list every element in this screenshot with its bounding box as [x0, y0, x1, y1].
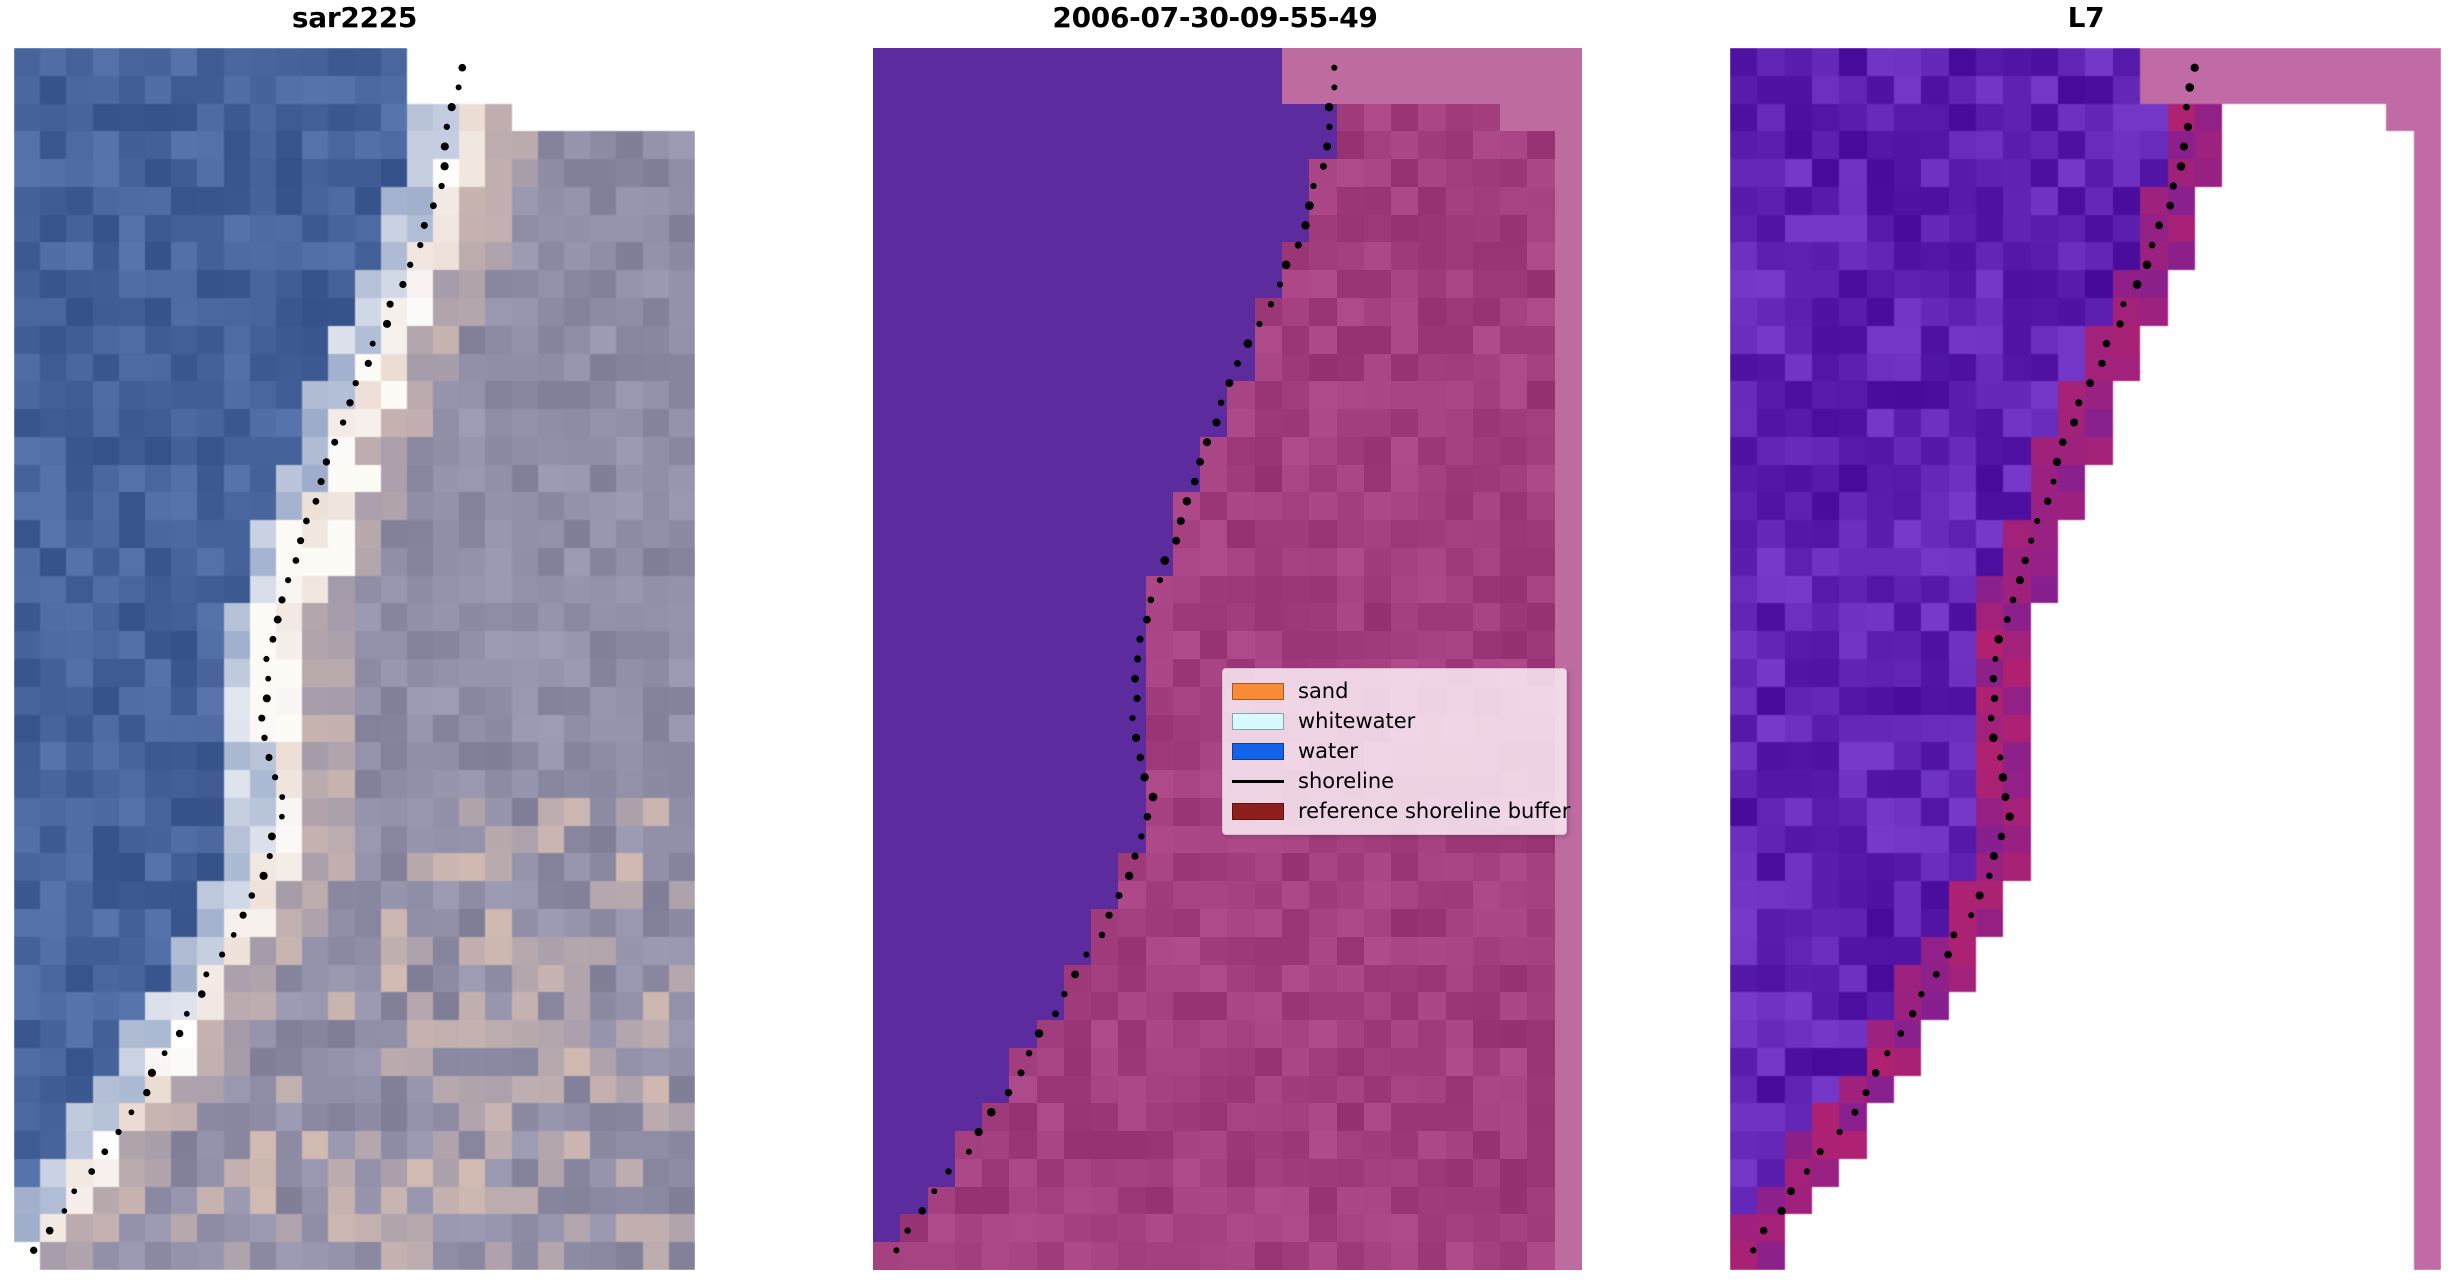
legend-swatch-shoreline-icon	[1232, 773, 1284, 790]
legend-item-whitewater: whitewater	[1232, 706, 1557, 736]
legend-item-shoreline: shoreline	[1232, 766, 1557, 796]
legend-box[interactable]: sand whitewater water shoreline referenc…	[1222, 668, 1567, 835]
legend-label-sand: sand	[1298, 681, 1348, 702]
panel-title-classification: 2006-07-30-09-55-49	[709, 4, 1721, 32]
legend-swatch-sand-icon	[1232, 683, 1284, 700]
legend-item-reference-shoreline-buffer: reference shoreline buffer	[1232, 796, 1557, 826]
axes-l7[interactable]	[1730, 48, 2441, 1270]
axes-sar2225[interactable]	[14, 48, 695, 1270]
panel-title-sar2225: sar2225	[0, 4, 709, 32]
panel-classification: 2006-07-30-09-55-49	[709, 0, 1721, 1283]
panel-sar2225: sar2225	[0, 0, 709, 1283]
legend-label-shoreline: shoreline	[1298, 771, 1394, 792]
legend-label-reference-shoreline-buffer: reference shoreline buffer	[1298, 801, 1570, 822]
pixel-grid-classification	[873, 48, 1582, 1270]
legend-swatch-reference-buffer-icon	[1232, 803, 1284, 820]
raster-l7	[1730, 48, 2441, 1270]
legend-label-water: water	[1298, 741, 1358, 762]
pixel-grid-l7	[1730, 48, 2441, 1270]
panel-l7: L7	[1721, 0, 2451, 1283]
raster-sar2225	[14, 48, 695, 1270]
legend-item-sand: sand	[1232, 676, 1557, 706]
axes-classification[interactable]	[873, 48, 1582, 1270]
legend-swatch-water-icon	[1232, 743, 1284, 760]
panel-title-l7: L7	[1721, 4, 2451, 32]
legend-swatch-whitewater-icon	[1232, 713, 1284, 730]
legend-label-whitewater: whitewater	[1298, 711, 1415, 732]
raster-classification	[873, 48, 1582, 1270]
legend-item-water: water	[1232, 736, 1557, 766]
figure-canvas: sar2225 2006-07-30-09-55-49	[0, 0, 2451, 1283]
pixel-grid-sar2225	[14, 48, 695, 1270]
